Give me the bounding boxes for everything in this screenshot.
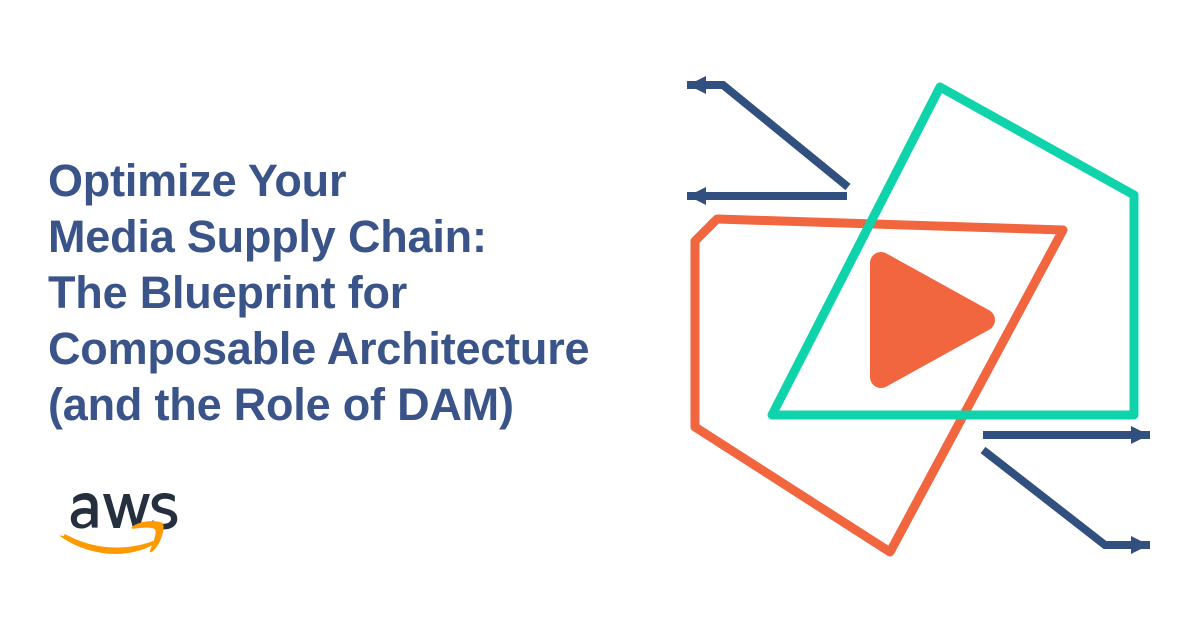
aws-logo <box>55 455 205 555</box>
banner: Optimize Your Media Supply Chain: The Bl… <box>0 0 1200 627</box>
page-title: Optimize Your Media Supply Chain: The Bl… <box>48 153 648 433</box>
arrow-out-diagonal-bottom-right <box>983 450 1150 545</box>
teal-pentagon-outline <box>772 87 1134 415</box>
arrowhead-out-horizontal-bottom-right <box>1131 426 1149 444</box>
headline-line-1: Optimize Your <box>48 153 648 209</box>
headline-line-4: Composable Architecture <box>48 321 648 377</box>
media-supply-chain-illustration <box>650 55 1200 585</box>
arrowhead-in-diagonal-top-left <box>688 76 706 94</box>
headline-line-5: (and the Role of DAM) <box>48 377 648 433</box>
arrowhead-out-diagonal-bottom-right <box>1131 536 1149 554</box>
play-triangle-icon <box>881 263 984 377</box>
arrowhead-in-horizontal-top-left <box>688 187 706 205</box>
headline-line-2: Media Supply Chain: <box>48 209 648 265</box>
left-content-column: Optimize Your Media Supply Chain: The Bl… <box>0 0 660 627</box>
headline-line-3: The Blueprint for <box>48 265 648 321</box>
arrow-in-diagonal-top-left <box>687 85 848 187</box>
